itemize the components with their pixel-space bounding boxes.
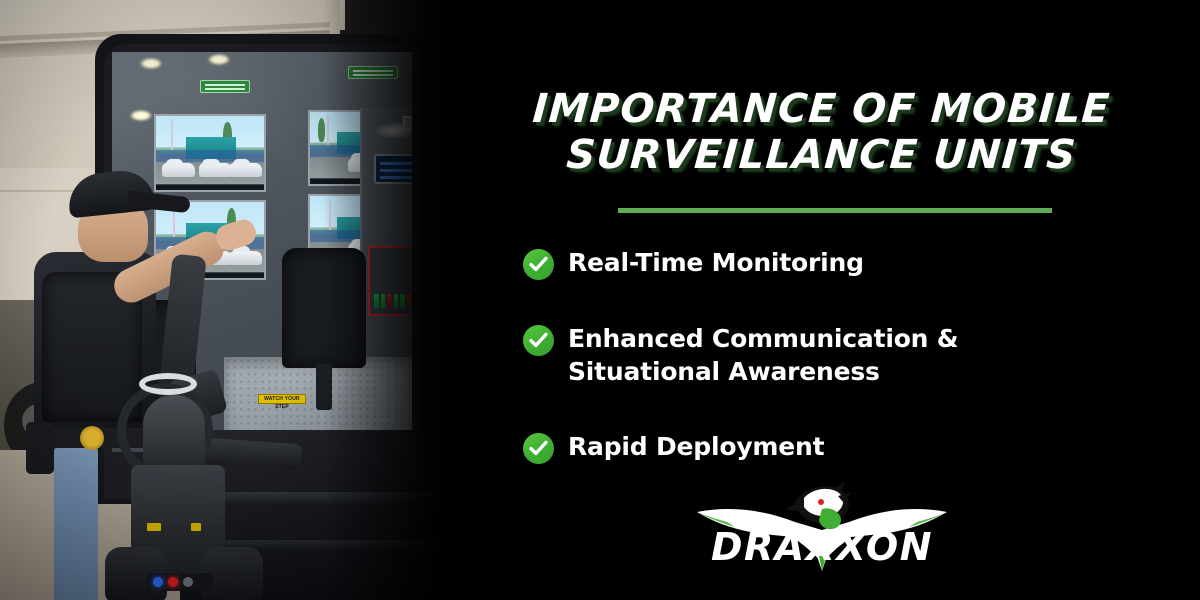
check-circle-icon <box>523 325 554 356</box>
slide-canvas: WATCH YOUR STEP <box>0 0 1200 600</box>
ceiling-light <box>130 110 152 121</box>
robot-led-gray <box>183 577 193 587</box>
feed-pole <box>327 115 329 145</box>
tactical-robot <box>95 255 295 600</box>
check-circle-icon <box>523 433 554 464</box>
robot-warning-decal <box>147 523 161 531</box>
breaker-switch <box>387 294 392 308</box>
green-station-sign <box>200 80 250 93</box>
rack-small-display <box>403 116 412 130</box>
rack-power-panel <box>368 246 412 316</box>
ceiling-light <box>140 58 162 69</box>
feed-tree <box>318 118 326 142</box>
content-panel: IMPORTANCE OF MOBILE SURVEILLANCE UNITS … <box>443 0 1200 600</box>
draxxon-logo: DRAXXON <box>691 478 953 573</box>
robot-indicator-panel <box>147 573 213 591</box>
logo-wordmark: DRAXXON <box>711 525 933 569</box>
feed-pole <box>171 119 173 150</box>
logo-dragon-jaw <box>785 504 797 511</box>
breaker-switch <box>407 294 412 308</box>
title-line-2: SURVEILLANCE UNITS <box>441 132 1200 178</box>
feature-list: Real-Time Monitoring Enhanced Communicat… <box>523 246 1143 464</box>
green-station-sign <box>348 66 398 79</box>
robot-warning-decal <box>191 523 201 531</box>
feature-label: Real-Time Monitoring <box>568 246 864 279</box>
robot-led-blue <box>153 577 163 587</box>
breaker-row <box>374 294 412 308</box>
robot-top-ring <box>139 373 197 395</box>
list-item: Enhanced Communication & Situational Awa… <box>523 322 1143 388</box>
robot-led-red <box>168 577 178 587</box>
list-item: Real-Time Monitoring <box>523 246 1143 280</box>
title-divider <box>618 208 1052 213</box>
feed-police-vehicle <box>229 163 261 177</box>
feed-police-vehicle <box>199 163 231 177</box>
robot-sensor-head <box>143 395 205 473</box>
breaker-switch <box>381 294 386 308</box>
breaker-switch <box>394 294 399 308</box>
title-line-1: IMPORTANCE OF MOBILE <box>441 86 1200 132</box>
surveillance-van-photo: WATCH YOUR STEP <box>0 0 443 600</box>
officer-holster <box>26 422 54 474</box>
feature-label: Enhanced Communication & Situational Awa… <box>568 322 1018 388</box>
logo-dragon-eye <box>818 499 824 505</box>
list-item: Rapid Deployment <box>523 430 1143 464</box>
ceiling-light <box>208 54 230 65</box>
breaker-switch <box>400 294 405 308</box>
breaker-switch <box>374 294 379 308</box>
check-circle-icon <box>523 249 554 280</box>
officer-leg-front <box>54 444 98 600</box>
chair-post <box>316 364 332 410</box>
feed-pole <box>329 199 331 230</box>
photo-stage: WATCH YOUR STEP <box>0 0 443 600</box>
feature-label: Rapid Deployment <box>568 430 824 463</box>
page-title: IMPORTANCE OF MOBILE SURVEILLANCE UNITS <box>443 86 1200 178</box>
rack-control-lcd <box>374 154 412 184</box>
